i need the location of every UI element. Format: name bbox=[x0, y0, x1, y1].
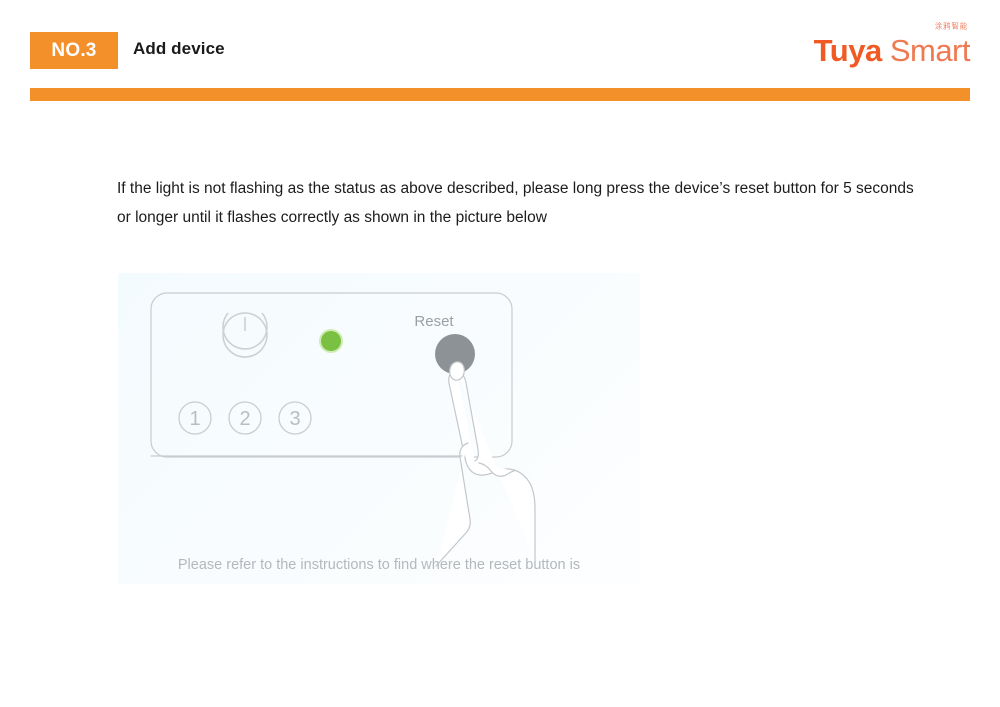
numbered-button-2: 2 bbox=[229, 402, 261, 434]
numbered-button-group: 1 2 3 bbox=[179, 402, 311, 434]
instruction-paragraph: If the light is not flashing as the stat… bbox=[117, 174, 917, 232]
step-number-badge: NO.3 bbox=[30, 32, 118, 69]
page-header: NO.3 Add device 涂鸦智能 Tuya Smart bbox=[0, 0, 1000, 101]
led-indicator-icon bbox=[319, 329, 343, 353]
step-number-label: NO.3 bbox=[51, 40, 96, 62]
power-icon bbox=[220, 310, 270, 360]
numbered-button-3-label: 3 bbox=[289, 408, 300, 430]
brand-wordmark: Tuya Smart bbox=[814, 32, 970, 70]
device-reset-illustration: 1 2 3 Reset bbox=[118, 273, 640, 584]
numbered-button-1-label: 1 bbox=[189, 408, 200, 430]
pointing-hand-icon bbox=[151, 362, 535, 566]
illustration-caption: Please refer to the instructions to find… bbox=[178, 557, 580, 573]
reset-label: Reset bbox=[414, 313, 454, 330]
brand-name-primary: Tuya bbox=[814, 33, 882, 68]
brand-name-secondary: Smart bbox=[882, 33, 970, 68]
numbered-button-2-label: 2 bbox=[239, 408, 250, 430]
numbered-button-1: 1 bbox=[179, 402, 211, 434]
numbered-button-3: 3 bbox=[279, 402, 311, 434]
page-title: Add device bbox=[133, 39, 225, 59]
brand-logo: 涂鸦智能 Tuya Smart bbox=[750, 22, 970, 77]
header-divider-bar bbox=[30, 88, 970, 101]
brand-chinese-name: 涂鸦智能 bbox=[935, 22, 968, 31]
